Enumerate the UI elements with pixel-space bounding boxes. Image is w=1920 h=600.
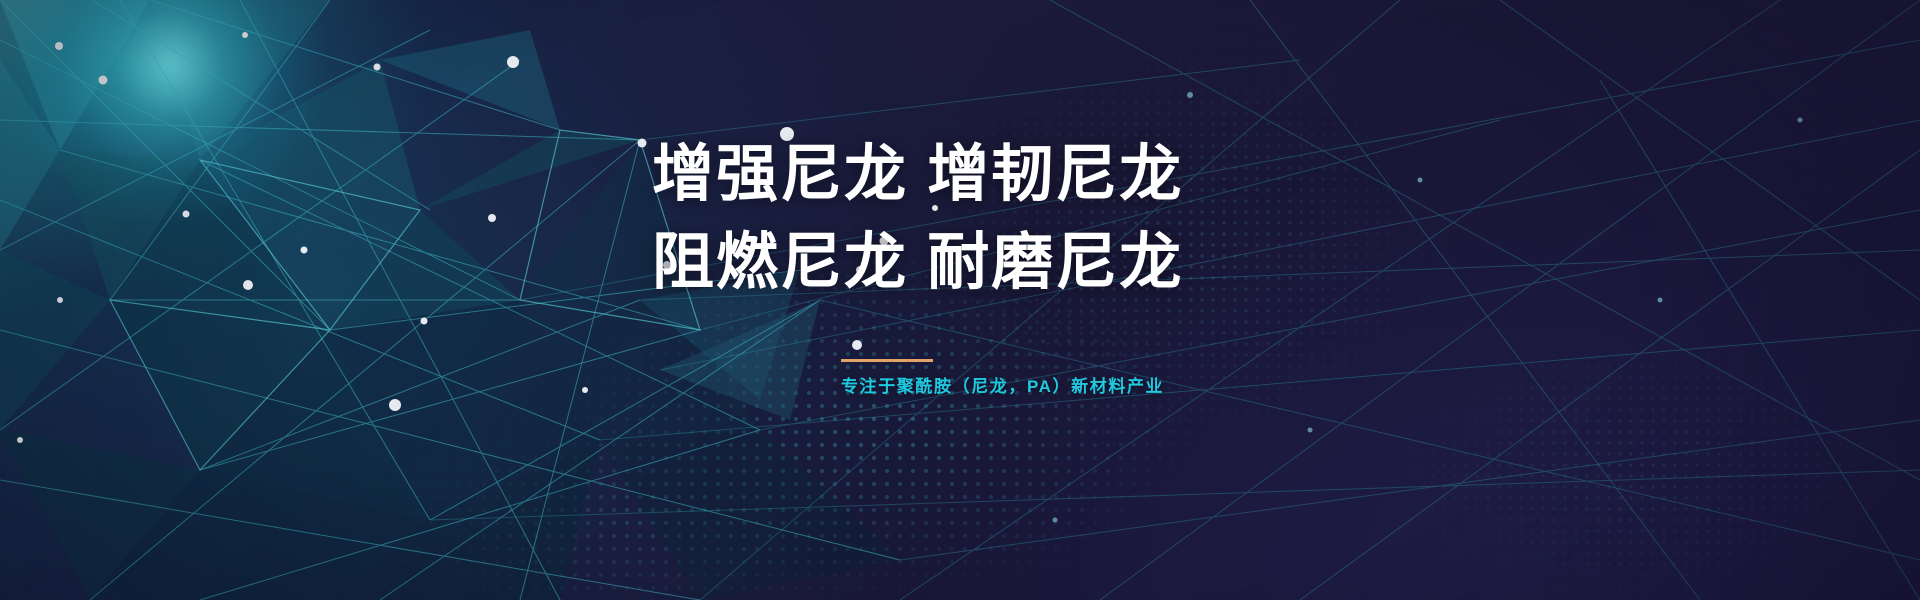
subtitle-divider [841, 359, 933, 362]
headline-line-2: 阻燃尼龙 耐磨尼龙 [652, 219, 1212, 307]
headline-line-1: 增强尼龙 增韧尼龙 [652, 131, 1212, 219]
banner-hero: 增强尼龙 增韧尼龙 阻燃尼龙 耐磨尼龙 专注于聚酰胺（尼龙，PA）新材料产业 [0, 0, 1920, 600]
headline: 增强尼龙 增韧尼龙 阻燃尼龙 耐磨尼龙 [652, 131, 1212, 307]
subtitle: 专注于聚酰胺（尼龙，PA）新材料产业 [841, 372, 1164, 397]
